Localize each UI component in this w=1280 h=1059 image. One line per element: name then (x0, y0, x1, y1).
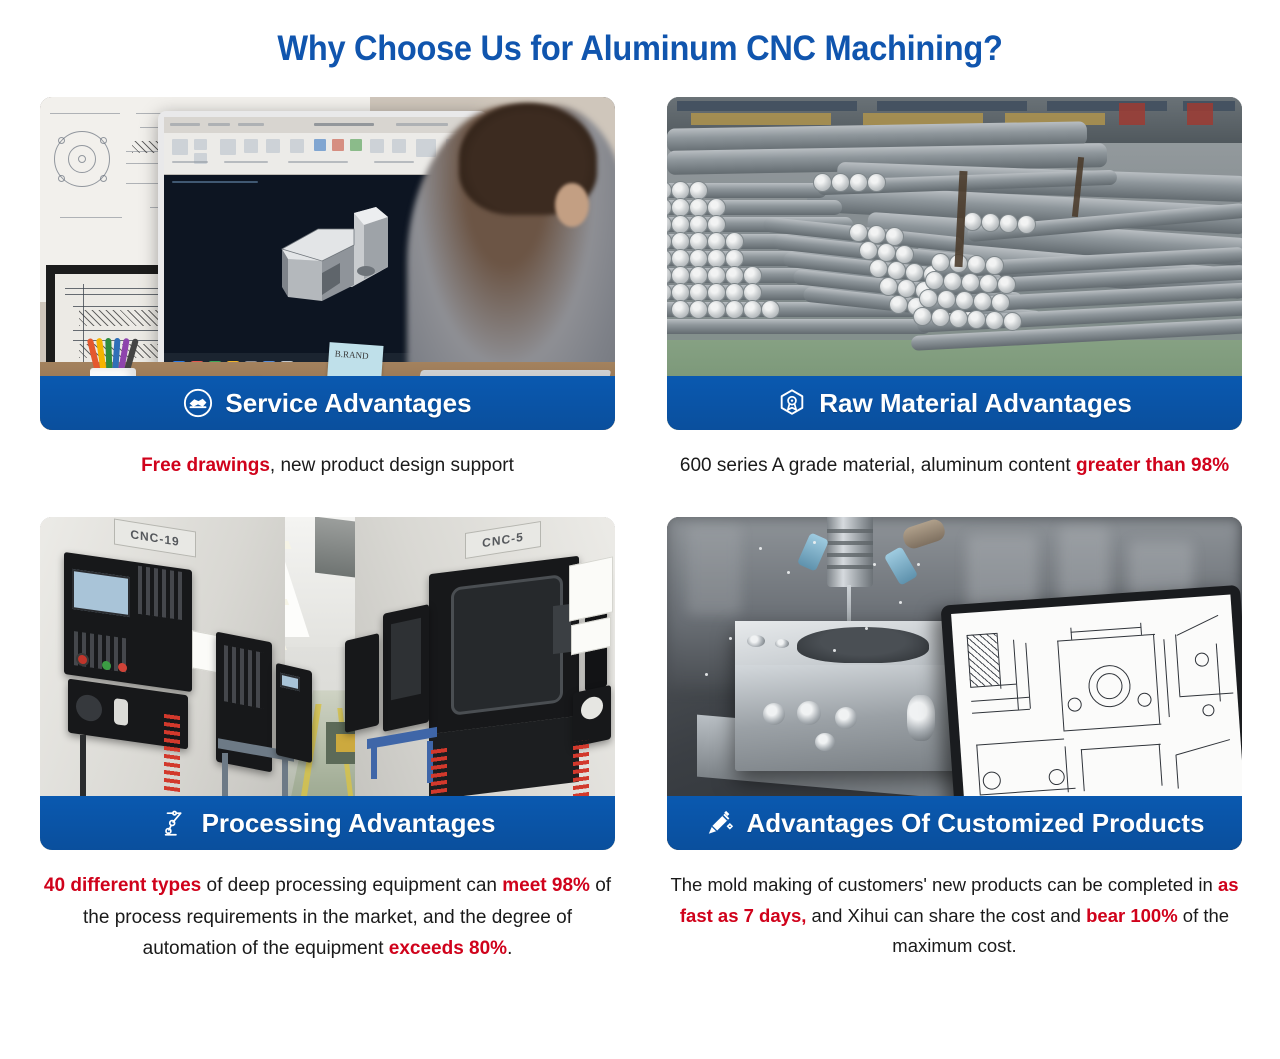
caption-text: and Xihui can share the cost and (806, 905, 1086, 926)
card-banner-service: Service Advantages (40, 376, 615, 430)
why-choose-us-section: Why Choose Us for Aluminum CNC Machining… (0, 0, 1280, 1059)
advantage-cell-service: 11:30CALL B.RAND Service Advantages (40, 97, 615, 481)
card-banner-label: Raw Material Advantages (819, 388, 1132, 419)
card-caption-raw-material: 600 series A grade material, aluminum co… (667, 450, 1242, 481)
cad-3d-part (260, 205, 400, 323)
advantage-card-raw-material[interactable]: Raw Material Advantages (667, 97, 1242, 430)
caption-text: The mold making of customers' new produc… (670, 874, 1218, 895)
caption-highlight: exceeds 80% (389, 938, 507, 959)
advantage-card-customized[interactable]: Advantages Of Customized Products (667, 517, 1242, 850)
robot-arm-icon (160, 808, 190, 838)
advantage-card-processing[interactable]: CNC-19 (40, 517, 615, 850)
page-title: Why Choose Us for Aluminum CNC Machining… (45, 0, 1235, 69)
advantage-cell-raw-material: Raw Material Advantages 600 series A gra… (667, 97, 1242, 481)
advantage-cell-processing: CNC-19 (40, 517, 615, 964)
card-banner-label: Processing Advantages (202, 808, 496, 839)
blueprint-tablet (940, 585, 1242, 831)
caption-text: 600 series A grade material, aluminum co… (680, 455, 1076, 476)
caption-highlight: Free drawings (141, 455, 270, 476)
pencil-design-icon (705, 808, 735, 838)
card-caption-customized: The mold making of customers' new produc… (667, 870, 1242, 962)
caption-highlight: bear 100% (1086, 905, 1178, 926)
caption-text: of deep processing equipment can (201, 875, 502, 896)
caption-highlight: greater than 98% (1076, 455, 1229, 476)
card-banner-raw-material: Raw Material Advantages (667, 376, 1242, 430)
advantage-cell-customized: Advantages Of Customized Products The mo… (667, 517, 1242, 964)
card-banner-label: Service Advantages (225, 388, 471, 419)
caption-text: , new product design support (270, 455, 514, 476)
caption-highlight: meet 98% (502, 875, 590, 896)
advantage-card-service[interactable]: 11:30CALL B.RAND Service Advantages (40, 97, 615, 430)
caption-highlight: 40 different types (44, 875, 201, 896)
card-banner-customized: Advantages Of Customized Products (667, 796, 1242, 850)
card-banner-label: Advantages Of Customized Products (747, 808, 1205, 839)
card-caption-processing: 40 different types of deep processing eq… (40, 870, 615, 964)
card-caption-service: Free drawings, new product design suppor… (40, 450, 615, 481)
hexagon-medal-icon (777, 388, 807, 418)
handshake-circle-icon (183, 388, 213, 418)
advantage-card-grid: 11:30CALL B.RAND Service Advantages (0, 97, 1280, 964)
caption-text: . (507, 938, 512, 959)
card-banner-processing: Processing Advantages (40, 796, 615, 850)
